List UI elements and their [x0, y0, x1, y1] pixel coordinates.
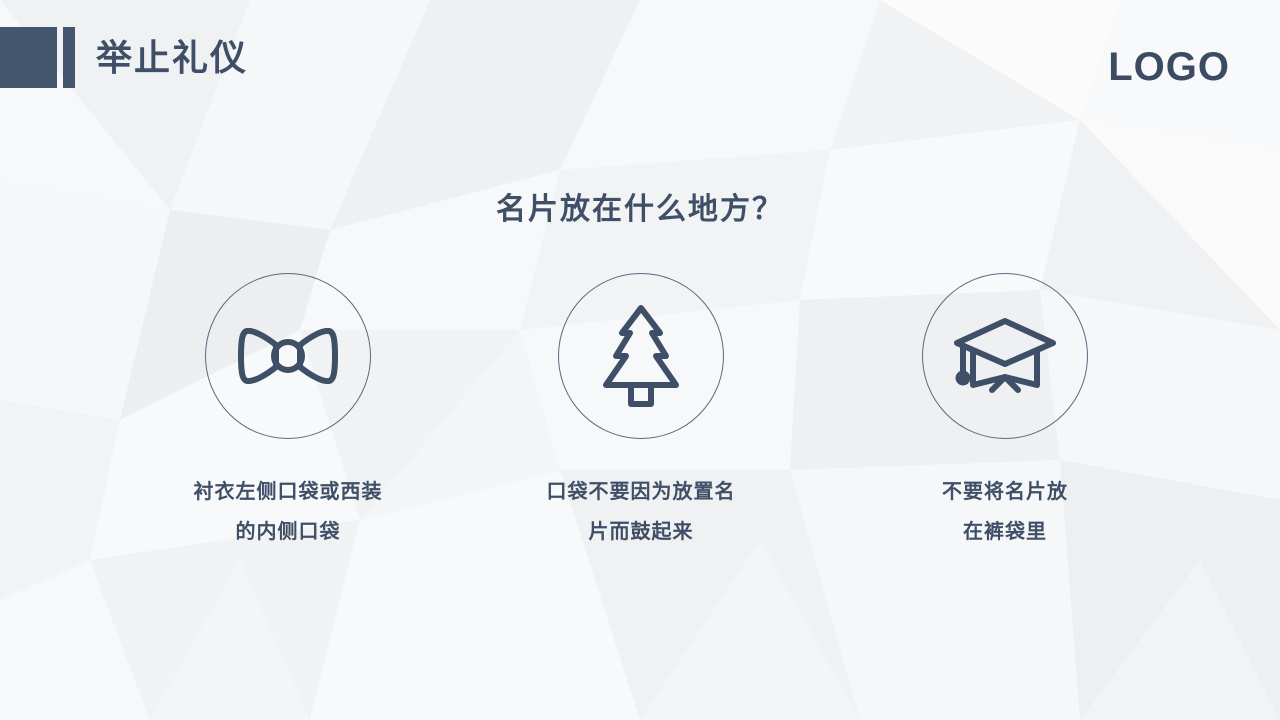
icon-circle-3 — [922, 273, 1088, 439]
card-caption-2: 口袋不要因为放置名 片而鼓起来 — [491, 472, 791, 552]
icon-circle-wrapper-3 — [855, 268, 1155, 444]
card-list: 衬衣左侧口袋或西装 的内侧口袋 口袋不要因为放置名 片而鼓起来 — [0, 268, 1280, 568]
slide-canvas: 举止礼仪 LOGO 名片放在什么地方？ 衬衣左侧口袋或西装 — [0, 0, 1280, 720]
bow-tie-icon — [236, 325, 340, 387]
icon-circle-1 — [205, 273, 371, 439]
card-caption-1-line-2: 的内侧口袋 — [138, 512, 438, 552]
card-caption-3: 不要将名片放 在裤袋里 — [855, 472, 1155, 552]
slide-header: 举止礼仪 LOGO — [0, 0, 1280, 118]
card-caption-1-line-1: 衬衣左侧口袋或西装 — [138, 472, 438, 512]
header-accent-block-large — [0, 27, 57, 88]
card-item-3: 不要将名片放 在裤袋里 — [855, 268, 1155, 552]
card-item-1: 衬衣左侧口袋或西装 的内侧口袋 — [138, 268, 438, 552]
icon-circle-wrapper-1 — [138, 268, 438, 444]
section-heading: 名片放在什么地方？ — [0, 190, 1280, 230]
logo-text: LOGO — [1108, 44, 1230, 90]
card-item-2: 口袋不要因为放置名 片而鼓起来 — [491, 268, 791, 552]
page-title: 举止礼仪 — [96, 36, 248, 80]
icon-circle-2 — [558, 273, 724, 439]
card-caption-1: 衬衣左侧口袋或西装 的内侧口袋 — [138, 472, 438, 552]
icon-circle-wrapper-2 — [491, 268, 791, 444]
card-caption-2-line-2: 片而鼓起来 — [491, 512, 791, 552]
header-accent-block-small — [63, 27, 75, 88]
card-caption-2-line-1: 口袋不要因为放置名 — [491, 472, 791, 512]
graduation-cap-icon — [952, 316, 1058, 396]
card-caption-3-line-2: 在裤袋里 — [855, 512, 1155, 552]
card-caption-3-line-1: 不要将名片放 — [855, 472, 1155, 512]
pine-tree-icon — [598, 303, 684, 409]
